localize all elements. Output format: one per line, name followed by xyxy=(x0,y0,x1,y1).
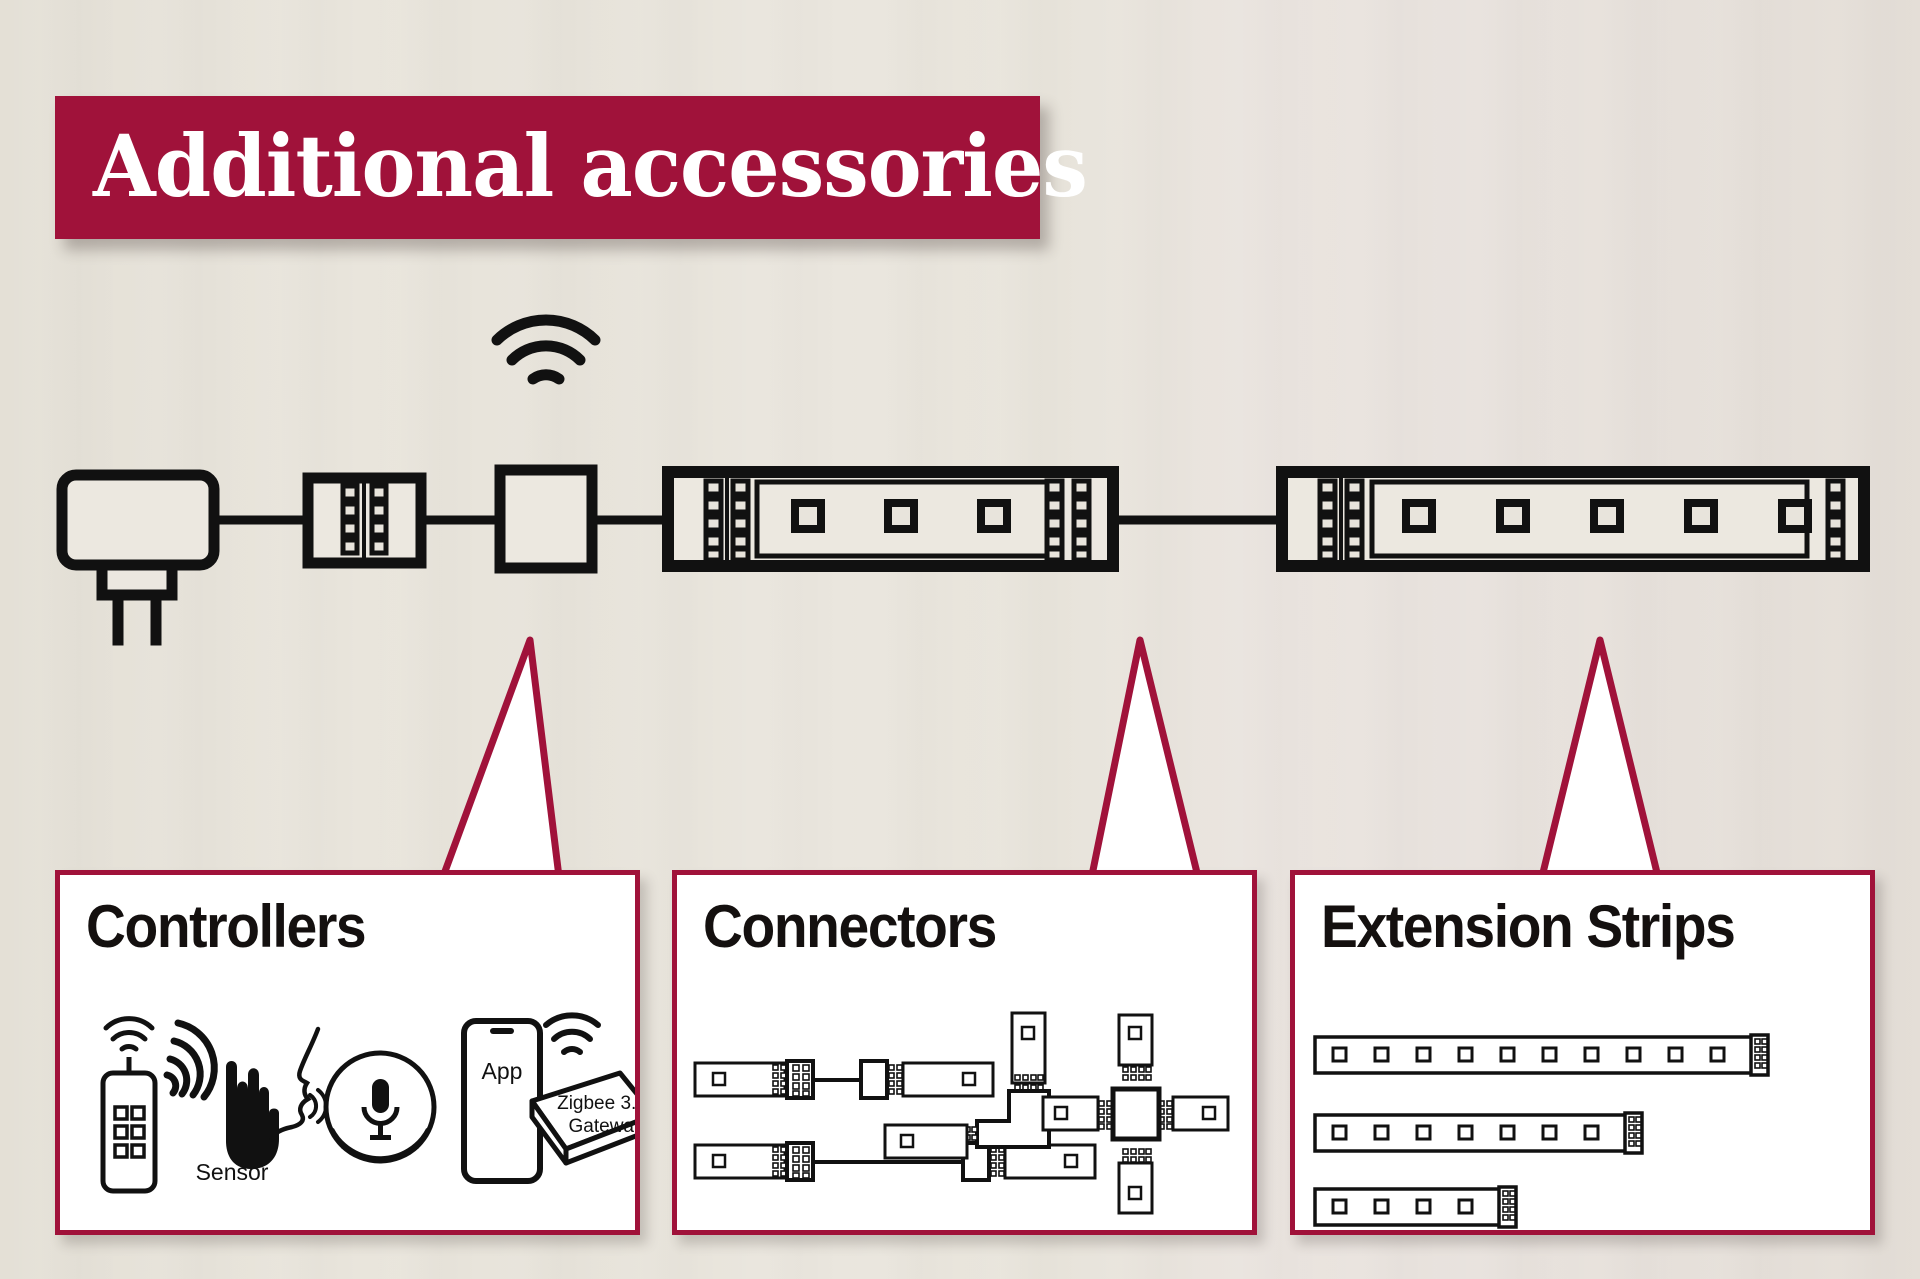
led-strip-short-icon xyxy=(1315,1187,1516,1227)
hand-glyph xyxy=(226,1061,279,1169)
wireless-controller-box xyxy=(500,470,592,568)
card-controllers: Controllers xyxy=(55,870,640,1235)
sensor-label: Sensor xyxy=(196,1159,269,1185)
extension-strips-group xyxy=(1295,995,1870,1235)
connectors-icon-group xyxy=(677,995,1252,1235)
led-strip-segment-1 xyxy=(668,472,1113,566)
led-strip-medium-icon xyxy=(1315,1113,1642,1153)
card-title-connectors: Connectors xyxy=(703,897,996,957)
power-supply-adapter xyxy=(62,475,214,640)
page-title: Additional accessories xyxy=(55,125,1087,210)
motion-sensor-icon: Sensor xyxy=(167,1023,279,1185)
led-strip-extension-2 xyxy=(1282,472,1864,566)
remote-control-icon xyxy=(103,1019,155,1191)
strip-connector-1 xyxy=(308,478,421,563)
cross-4-way-connector-icon xyxy=(1043,1015,1228,1213)
gateway-label-line2: Gateway xyxy=(569,1116,640,1137)
title-banner: Additional accessories xyxy=(55,96,1040,239)
callout-connectors xyxy=(1090,640,1200,885)
card-extensions: Extension Strips xyxy=(1290,870,1875,1235)
card-connectors: Connectors xyxy=(672,870,1257,1235)
callout-controllers xyxy=(440,640,560,885)
zigbee-gateway-icon: Zigbee 3.0 Gateway xyxy=(532,1015,640,1163)
voice-assistant-icon xyxy=(272,1029,434,1161)
app-label: App xyxy=(482,1058,523,1084)
infographic-canvas: Additional accessories xyxy=(0,0,1920,1279)
led-system-wiring-diagram xyxy=(0,300,1920,630)
short-jumper-connector-icon xyxy=(695,1061,993,1098)
smartphone-app-icon: App xyxy=(464,1021,540,1181)
card-title-extensions: Extension Strips xyxy=(1321,897,1734,957)
led-strip-long-icon xyxy=(1315,1035,1768,1075)
callout-extensions xyxy=(1540,640,1660,885)
controllers-icon-row: Sensor xyxy=(60,995,635,1235)
gateway-label-line1: Zigbee 3.0 xyxy=(557,1093,640,1114)
card-title-controllers: Controllers xyxy=(86,897,365,957)
wifi-waves-icon xyxy=(497,320,595,379)
